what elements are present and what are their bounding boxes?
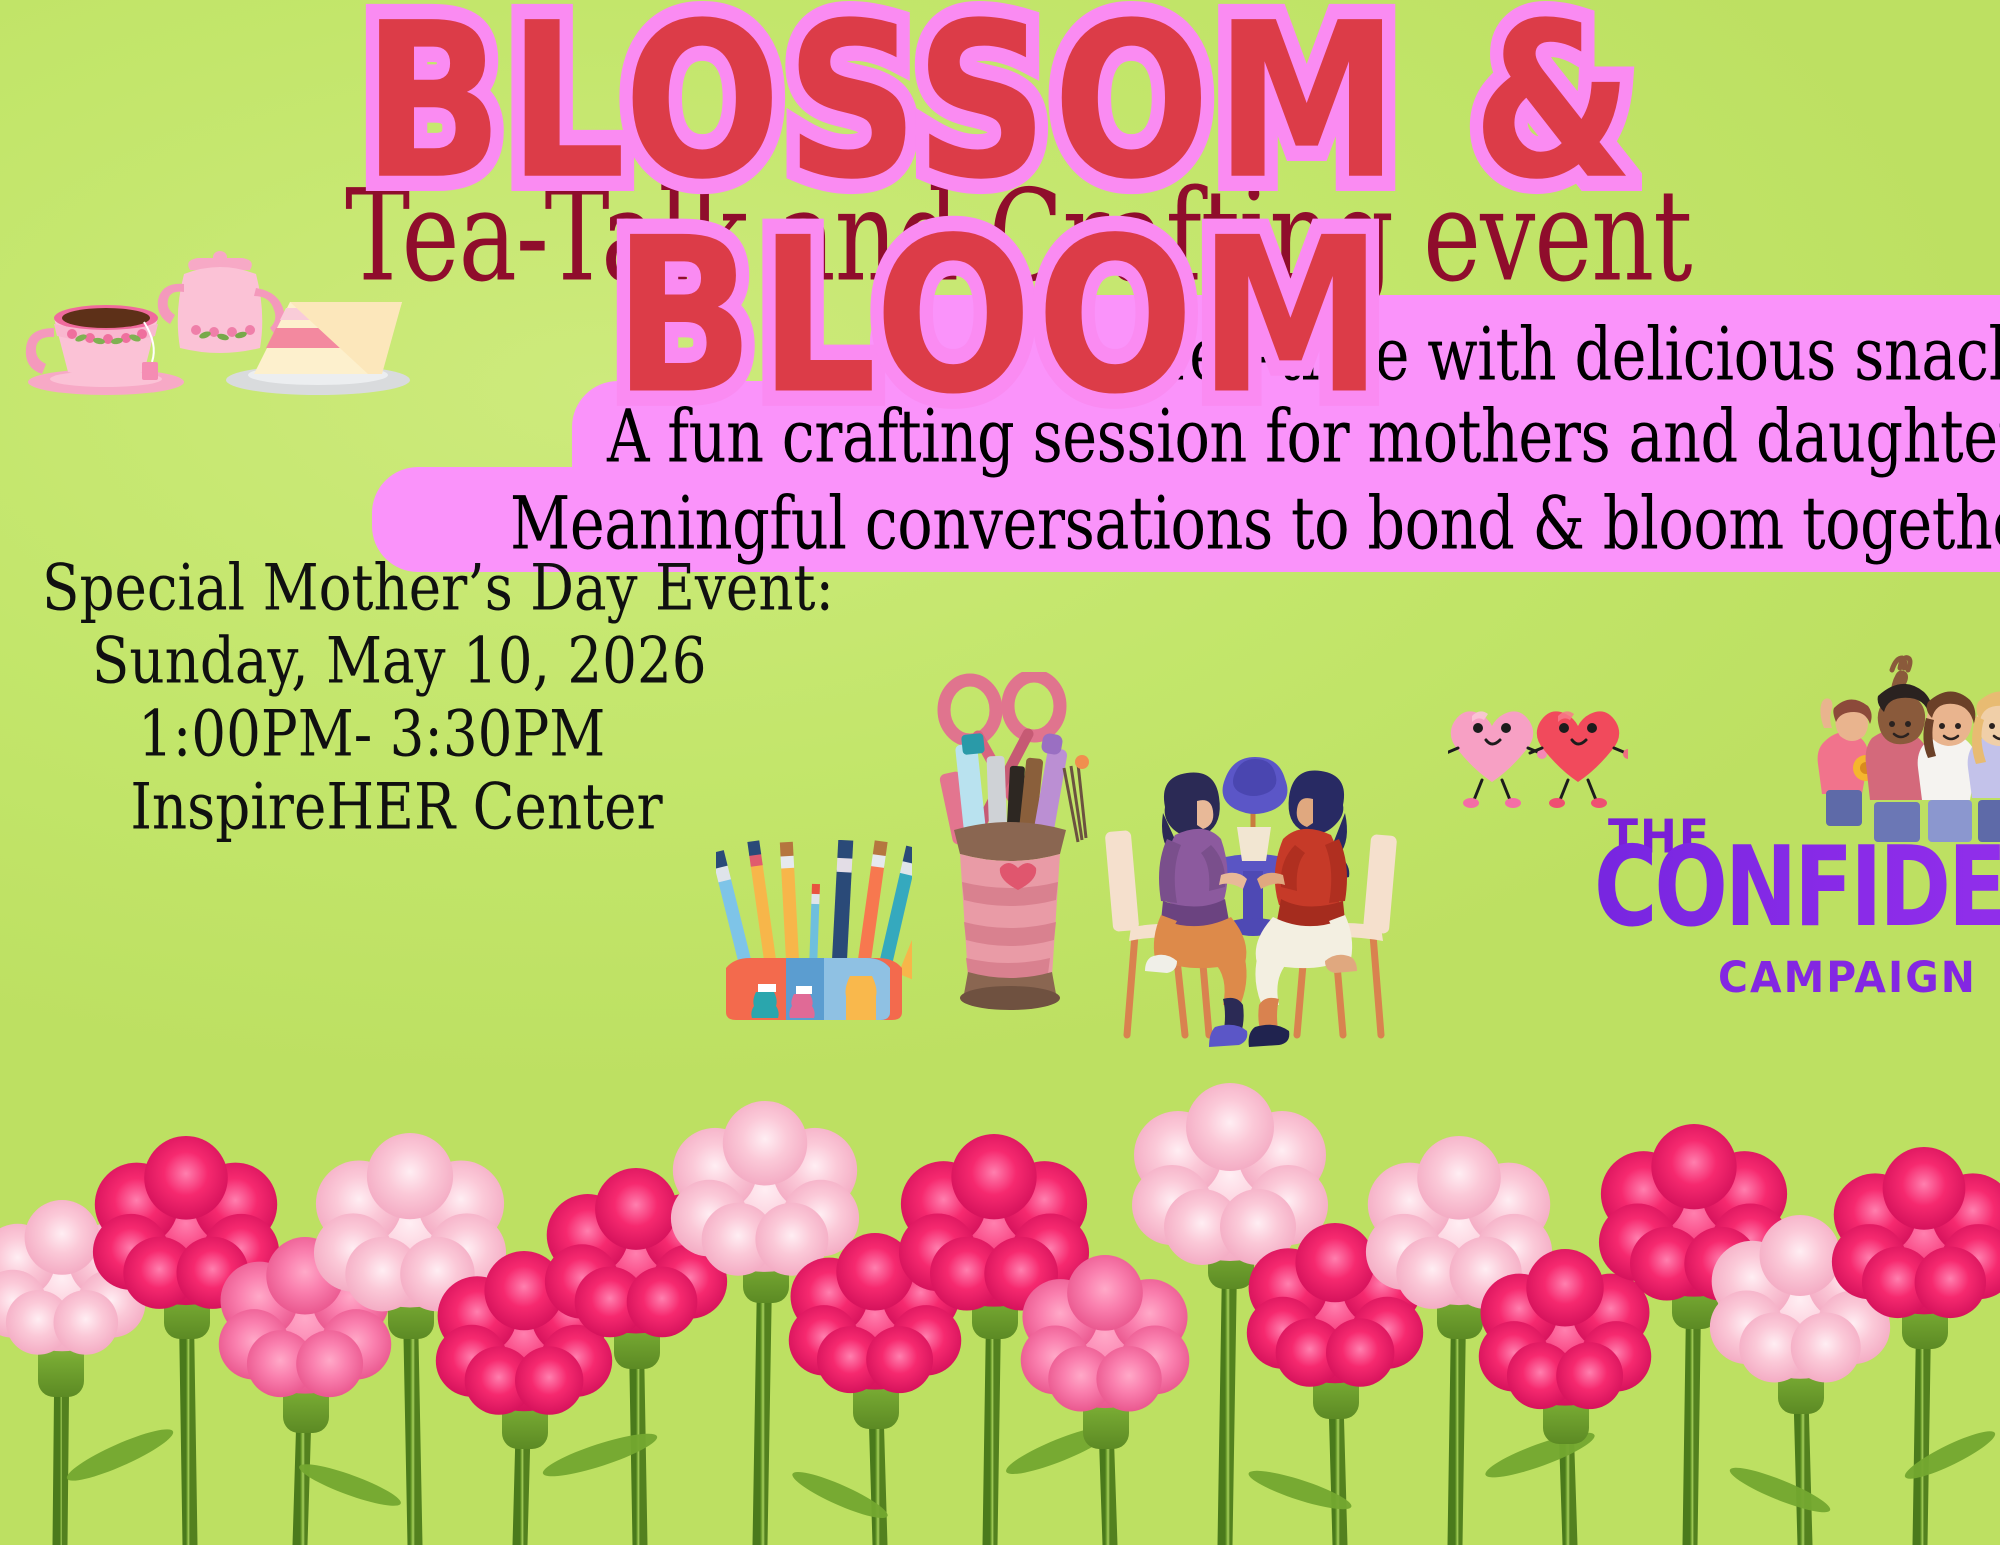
event-time: 1:00PM- 3:30PM xyxy=(42,694,834,776)
poster-canvas: BLOSSOM & BLOOM Tea-Talk and Crafting ev… xyxy=(0,0,2000,1545)
event-venue: InspireHER Center xyxy=(42,767,834,849)
carnation-border xyxy=(0,985,2000,1545)
event-heading: Special Mother’s Day Event: xyxy=(42,548,834,630)
feature-line-2: A fun crafting session for mothers and d… xyxy=(607,400,2000,473)
event-details: Special Mother’s Day Event: Sunday, May … xyxy=(42,548,867,840)
craft-spool-illustration xyxy=(930,672,1090,1022)
feature-line-1: Tea-time with delicious snacks xyxy=(1155,318,2000,391)
logo-confidence-text: CONFIDENCE xyxy=(1594,838,2000,938)
event-date: Sunday, May 10, 2026 xyxy=(42,621,834,703)
poster-subtitle: Tea-Talk and Crafting event xyxy=(345,172,1692,299)
logo-campaign-text: CAMPAIGN xyxy=(1718,954,1977,1003)
paint-brushes-illustration xyxy=(716,840,912,1020)
women-talking-illustration xyxy=(1105,735,1405,1055)
confidence-campaign-logo: THE CONFIDENCE CAMPAIGN xyxy=(1600,750,2000,1000)
